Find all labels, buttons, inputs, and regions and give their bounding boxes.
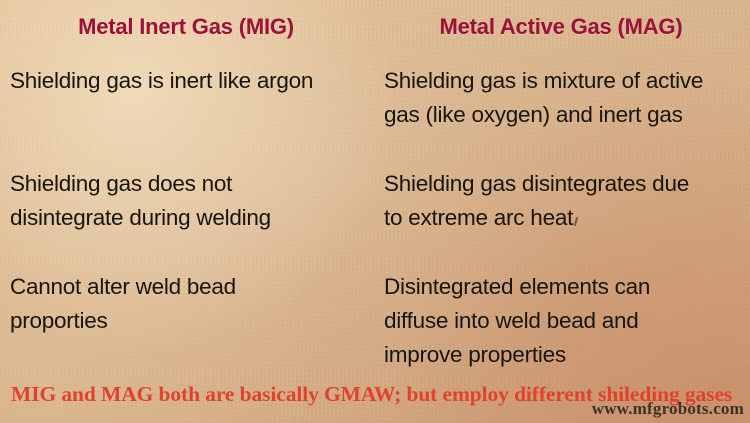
cell-line: diffuse into weld bead and	[384, 304, 742, 338]
cell-line: Cannot alter weld bead	[10, 270, 370, 304]
column-heading-mig: Metal Inert Gas (MIG)	[0, 14, 372, 40]
comparison-infographic: Metal Inert Gas (MIG) Metal Active Gas (…	[0, 0, 750, 423]
comparison-cell: Shielding gas is inert like argon	[10, 64, 370, 98]
site-watermark: www.mfgrobots.com	[592, 399, 744, 419]
infographic-content: Metal Inert Gas (MIG) Metal Active Gas (…	[0, 0, 750, 423]
ink-fleck-mark	[574, 217, 578, 226]
comparison-cell: Shielding gas does not disintegrate duri…	[10, 167, 370, 235]
comparison-cell: Cannot alter weld bead proporties	[10, 270, 370, 338]
cell-line: to extreme arc heat	[384, 205, 573, 230]
cell-line: Disintegrated elements can	[384, 270, 742, 304]
comparison-column-mig: Shielding gas is inert like argon Shield…	[10, 64, 370, 338]
cell-line: improve properties	[384, 338, 742, 372]
cell-line: gas (like oxygen) and inert gas	[384, 98, 742, 132]
column-heading-mag: Metal Active Gas (MAG)	[372, 14, 750, 40]
cell-line: Shielding gas does not	[10, 167, 370, 201]
cell-line: Shielding gas is mixture of active	[384, 64, 742, 98]
cell-line: Shielding gas is inert like argon	[10, 64, 370, 98]
cell-line: proporties	[10, 304, 370, 338]
cell-line-with-fleck: to extreme arc heat	[384, 201, 742, 235]
comparison-cell: Shielding gas disintegrates due to extre…	[384, 167, 742, 235]
cell-line: disintegrate during welding	[10, 201, 370, 235]
comparison-cell: Shielding gas is mixture of active gas (…	[384, 64, 742, 132]
cell-line: Shielding gas disintegrates due	[384, 167, 742, 201]
comparison-column-mag: Shielding gas is mixture of active gas (…	[384, 64, 742, 372]
comparison-cell: Disintegrated elements can diffuse into …	[384, 270, 742, 372]
